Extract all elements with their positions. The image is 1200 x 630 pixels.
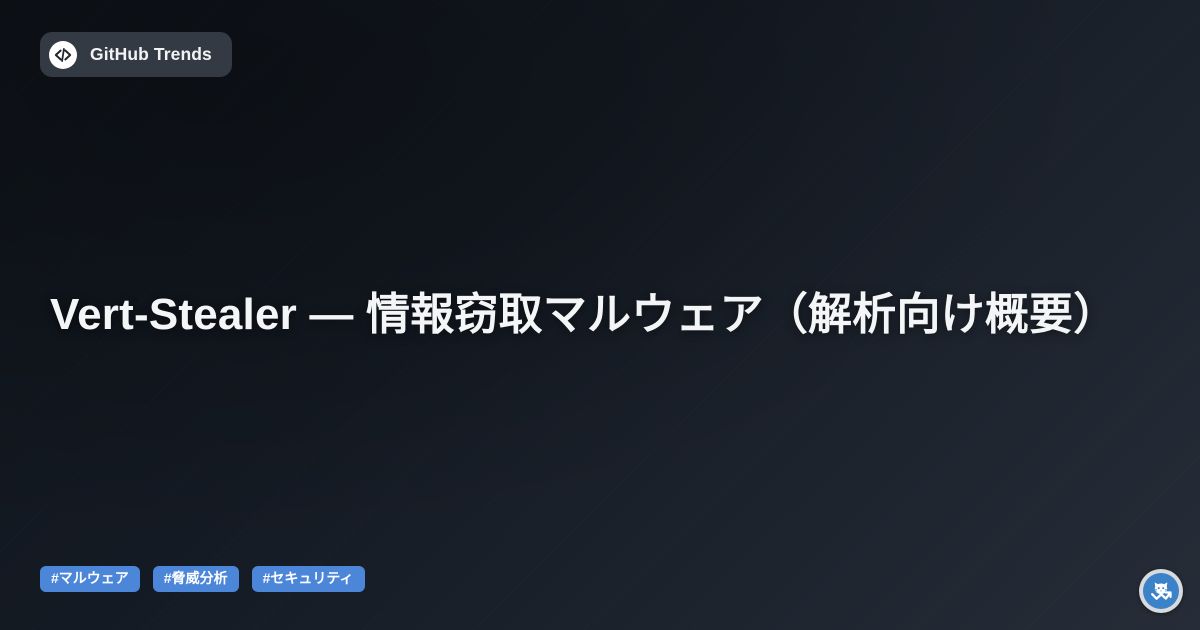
cat-trend-logo-icon[interactable] [1139, 569, 1183, 613]
tag-item[interactable]: #脅威分析 [153, 566, 239, 593]
source-badge[interactable]: GitHub Trends [40, 32, 232, 77]
tag-list: #マルウェア #脅威分析 #セキュリティ [40, 566, 365, 593]
page-title: Vert-Stealer — 情報窃取マルウェア（解析向け概要） [50, 0, 1150, 630]
tag-item[interactable]: #セキュリティ [252, 566, 365, 593]
diagonal-stripe-overlay [0, 0, 1200, 630]
source-badge-label: GitHub Trends [90, 44, 212, 65]
tag-item[interactable]: #マルウェア [40, 566, 140, 593]
og-card: GitHub Trends Vert-Stealer — 情報窃取マルウェア（解… [0, 0, 1200, 630]
code-brackets-icon [49, 41, 77, 69]
logo-disc [1143, 573, 1179, 609]
vignette-overlay [0, 0, 1200, 630]
